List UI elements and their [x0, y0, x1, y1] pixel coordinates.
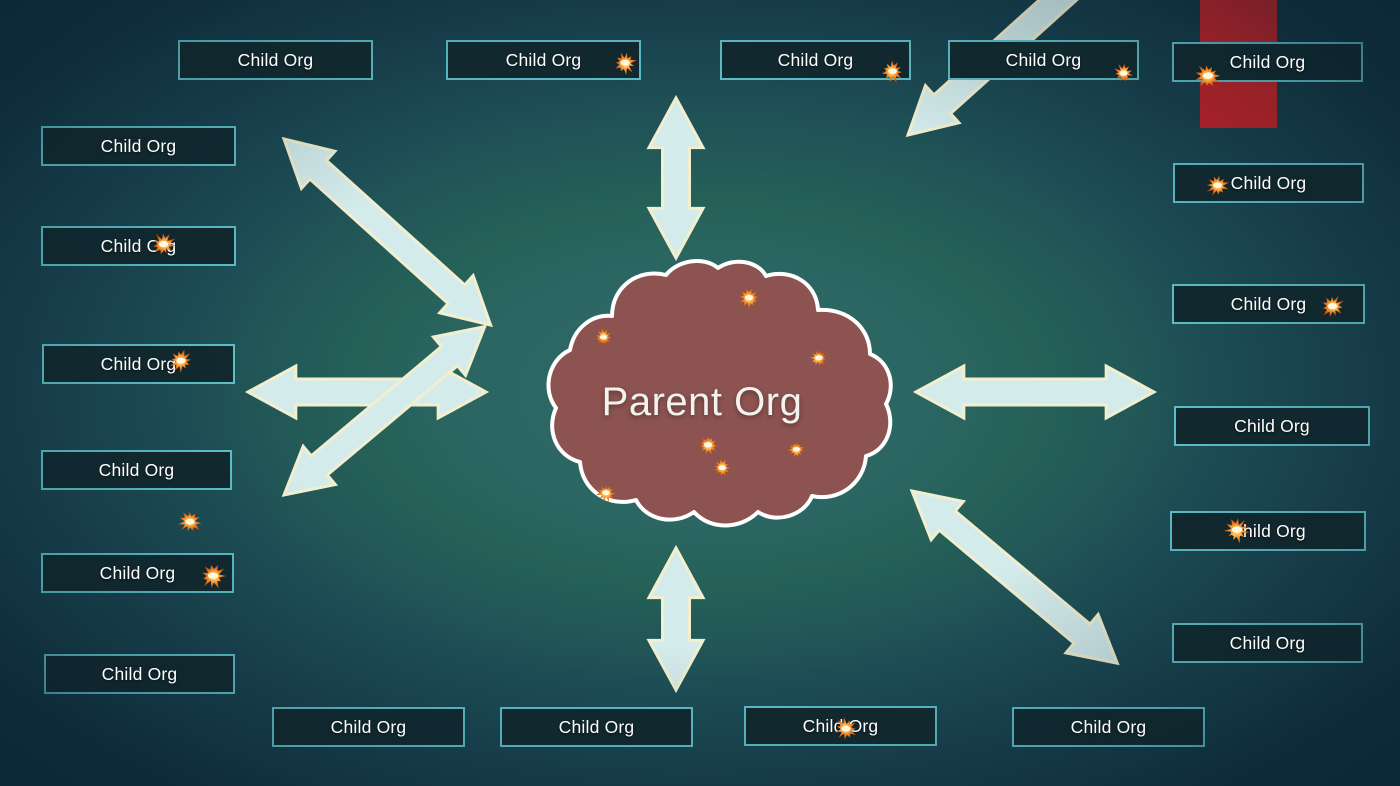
child-org-label: Child Org [803, 716, 879, 737]
spark-icon [1207, 175, 1228, 196]
child-org-label: Child Org [331, 717, 407, 738]
child-org-box[interactable]: Child Org [41, 553, 234, 593]
child-org-label: Child Org [238, 50, 314, 71]
child-org-box[interactable]: Child Org [272, 707, 465, 747]
child-org-box[interactable]: Child Org [948, 40, 1139, 80]
child-org-box[interactable]: Child Org [42, 344, 235, 384]
spark-icon [1321, 295, 1344, 318]
child-org-box[interactable]: Child Org [1172, 284, 1365, 324]
child-org-label: Child Org [506, 50, 582, 71]
arrow-down [649, 548, 703, 690]
child-org-box[interactable]: Child Org [1173, 163, 1364, 203]
child-org-label: Child Org [1230, 521, 1306, 542]
arrow-up [649, 98, 703, 258]
child-org-box[interactable]: Child Org [1012, 707, 1205, 747]
parent-org-cloud[interactable]: Parent Org [508, 258, 896, 546]
child-org-label: Child Org [101, 236, 177, 257]
child-org-label: Child Org [101, 354, 177, 375]
child-org-box[interactable]: Child Org [41, 226, 236, 266]
child-org-box[interactable]: Child Org [500, 707, 693, 747]
child-org-box[interactable]: Child Org [1170, 511, 1366, 551]
child-org-label: Child Org [102, 664, 178, 685]
child-org-box[interactable]: Child Org [178, 40, 373, 80]
child-org-box[interactable]: Child Org [744, 706, 937, 746]
child-org-box[interactable]: Child Org [1172, 623, 1363, 663]
child-org-label: Child Org [1230, 633, 1306, 654]
cloud-shape [508, 258, 896, 546]
spark-icon [1114, 64, 1133, 83]
child-org-box[interactable]: Child Org [1174, 406, 1370, 446]
child-org-label: Child Org [1231, 173, 1307, 194]
child-org-label: Child Org [559, 717, 635, 738]
child-org-label: Child Org [1231, 294, 1307, 315]
spark-icon [201, 564, 225, 588]
spark-icon [179, 511, 201, 533]
child-org-box[interactable]: Child Org [41, 126, 236, 166]
spark-icon [882, 61, 903, 82]
arrow-down-left [268, 307, 501, 514]
child-org-label: Child Org [1071, 717, 1147, 738]
child-org-box[interactable]: Child Org [44, 654, 235, 694]
child-org-label: Child Org [1234, 416, 1310, 437]
arrow-right [916, 366, 1154, 418]
child-org-label: Child Org [1006, 50, 1082, 71]
arrow-up-left [267, 120, 507, 343]
spark-icon [614, 52, 636, 74]
child-org-label: Child Org [101, 136, 177, 157]
arrow-left [248, 366, 486, 418]
child-org-box[interactable]: Child Org [720, 40, 911, 80]
child-org-box[interactable]: Child Org [41, 450, 232, 490]
child-org-label: Child Org [1230, 52, 1306, 73]
child-org-box[interactable]: Child Org [446, 40, 641, 80]
arrow-down-right [896, 472, 1133, 683]
child-org-label: Child Org [99, 460, 175, 481]
diagram-canvas: Parent Org Child OrgChild OrgChild OrgCh… [0, 0, 1400, 786]
child-org-box[interactable]: Child Org [1172, 42, 1363, 82]
child-org-label: Child Org [778, 50, 854, 71]
child-org-label: Child Org [100, 563, 176, 584]
